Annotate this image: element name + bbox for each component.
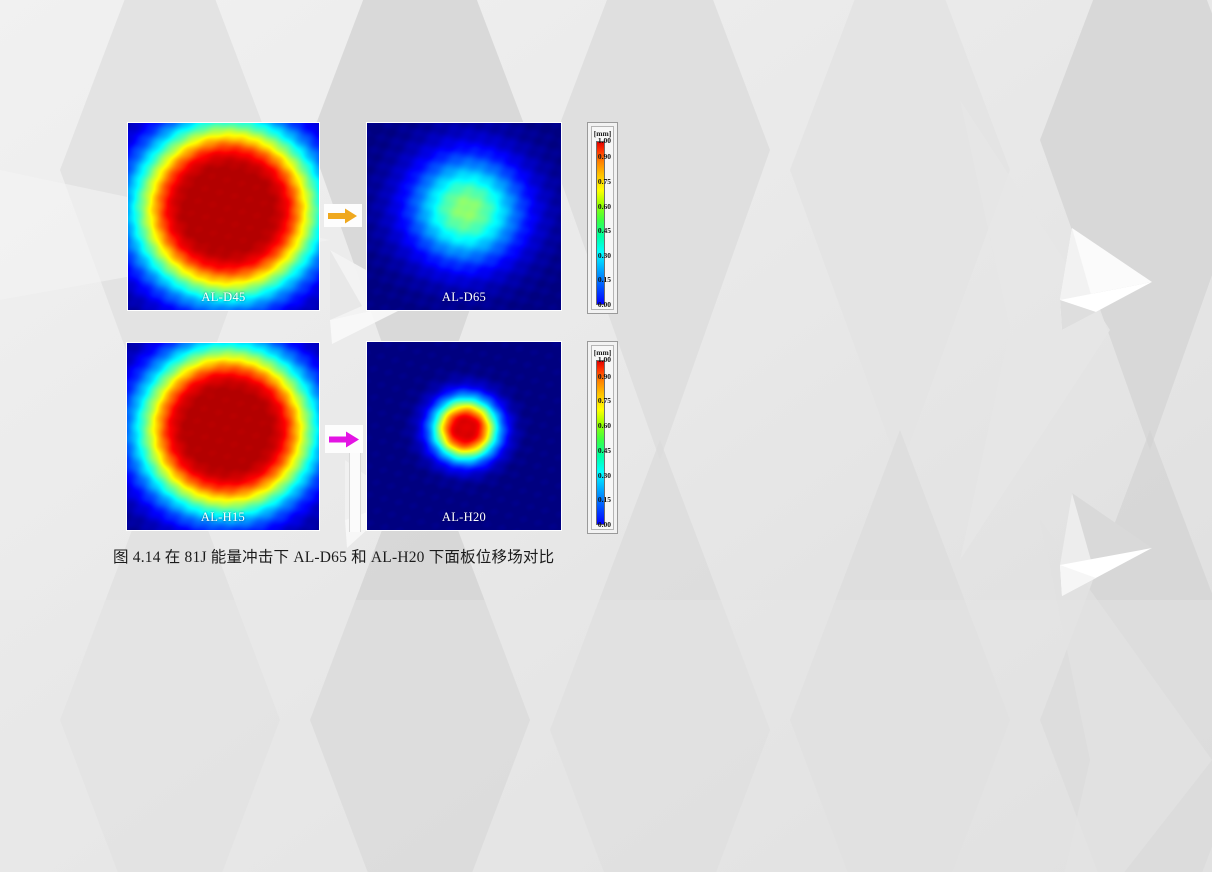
colorbar-top-tick-3: 0.60 xyxy=(598,203,611,211)
colorbar-bottom-tick-3: 0.60 xyxy=(598,422,611,430)
transition-arrow-row-1 xyxy=(324,204,362,227)
connector-stem xyxy=(349,450,361,532)
colorbar-top-tick-5: 0.30 xyxy=(598,252,611,260)
figure-caption: 图 4.14 在 81J 能量冲击下 AL-D65 和 AL-H20 下面板位移… xyxy=(113,545,554,567)
colorbar-bottom-tick-7: 0.00 xyxy=(598,521,611,529)
colorbar-top-tick-7: 0.00 xyxy=(598,301,611,309)
colorbar-top-tick-6: 0.15 xyxy=(598,276,611,284)
colorbar-bottom-tick-6: 0.15 xyxy=(598,496,611,504)
colorbar-top: [mm] 1.000.900.750.600.450.300.150.00 xyxy=(587,122,618,314)
colorbar-bottom-tick-1: 0.90 xyxy=(598,373,611,381)
arrow-right-icon xyxy=(329,431,360,448)
colorbar-bottom-tick-5: 0.30 xyxy=(598,472,611,480)
contour-panel-al-h15: AL-H15 xyxy=(126,342,320,531)
arrow-right-icon xyxy=(328,208,358,224)
colorbar-bottom-tick-4: 0.45 xyxy=(598,447,611,455)
colorbar-bottom: [mm] 1.000.900.750.600.450.300.150.00 xyxy=(587,341,618,534)
colorbar-bottom-tick-2: 0.75 xyxy=(598,397,611,405)
colorbar-top-tick-1: 0.90 xyxy=(598,153,611,161)
colorbar-top-tick-4: 0.45 xyxy=(598,227,611,235)
transition-arrow-row-2 xyxy=(325,425,363,453)
colorbar-top-tick-0: 1.00 xyxy=(598,137,611,145)
contour-panel-al-d45: AL-D45 xyxy=(127,122,320,311)
contour-panel-al-h20: AL-H20 xyxy=(366,341,562,531)
contour-panel-al-d65: AL-D65 xyxy=(366,122,562,311)
colorbar-bottom-tick-0: 1.00 xyxy=(598,356,611,364)
slide-canvas: AL-D45 AL-D65 [mm] 1.000.900.750.600.450… xyxy=(0,0,1212,872)
colorbar-top-tick-2: 0.75 xyxy=(598,178,611,186)
